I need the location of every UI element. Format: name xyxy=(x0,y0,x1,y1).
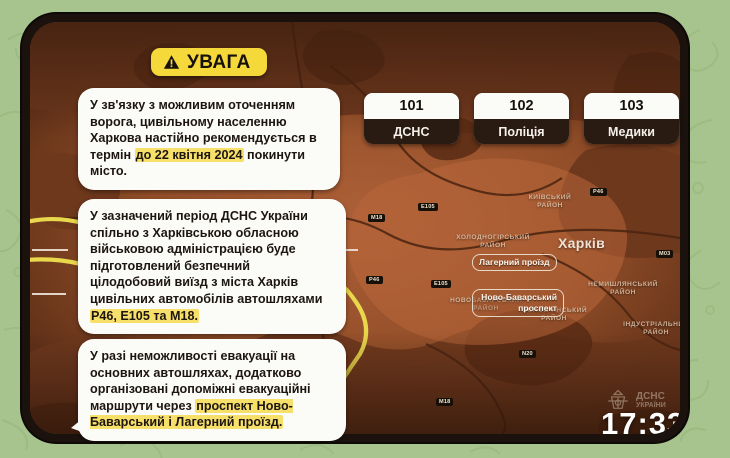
message-text: У разі неможливості евакуації на основни… xyxy=(90,348,334,431)
road-shield-m18-south: M18 xyxy=(436,398,453,406)
road-shield-e105-west: E105 xyxy=(431,280,451,288)
watermark-line-1: ДСНС xyxy=(636,392,666,402)
road-shield-m18-sw: M18 xyxy=(368,214,385,222)
road-shield-m03-ne: M03 xyxy=(656,250,673,258)
emergency-number: 102 xyxy=(474,93,569,119)
emergency-org: Поліція xyxy=(474,119,569,144)
message-bubble-backup-routes: У разі неможливості евакуації на основни… xyxy=(78,339,346,441)
clock-timestamp: 17:33 xyxy=(601,407,680,434)
emergency-card-dsns[interactable]: 101 ДСНС xyxy=(364,93,459,144)
alert-badge: УВАГА xyxy=(151,48,267,76)
map-callout-lagerny-proizd[interactable]: Лагерний проїзд xyxy=(472,254,557,271)
emergency-number: 103 xyxy=(584,93,679,119)
screenshot-root: Харків КИЇВСЬКИЙ РАЙОН ХОЛОДНОГІРСЬКИЙ Р… xyxy=(0,0,730,458)
emergency-org: Медики xyxy=(584,119,679,144)
map-callout-novobavarsky-prospekt[interactable]: Ново-Баварський проспект xyxy=(472,289,564,317)
road-shield-p46-east: P46 xyxy=(590,188,607,196)
emergency-card-police[interactable]: 102 Поліція xyxy=(474,93,569,144)
warning-triangle-icon xyxy=(163,54,180,70)
message-text: У зв'язку з можливим оточенням ворога, ц… xyxy=(90,97,328,180)
message-bubble-main-routes: У зазначений період ДСНС України спільно… xyxy=(78,199,346,334)
highlighted-run: до 22 квітня 2024 xyxy=(135,148,244,162)
alert-badge-label: УВАГА xyxy=(187,53,251,72)
highlighted-run: Р46, Е105 та М18. xyxy=(90,309,199,323)
emergency-org: ДСНС xyxy=(364,119,459,144)
road-shield-e105-north: E105 xyxy=(418,203,438,211)
road-shield-n20-se: N20 xyxy=(519,350,536,358)
message-bubble-evacuation-deadline: У зв'язку з можливим оточенням ворога, ц… xyxy=(78,88,340,190)
emergency-card-medics[interactable]: 103 Медики xyxy=(584,93,679,144)
emergency-number: 101 xyxy=(364,93,459,119)
message-text: У зазначений період ДСНС України спільно… xyxy=(90,208,334,324)
post-frame: Харків КИЇВСЬКИЙ РАЙОН ХОЛОДНОГІРСЬКИЙ Р… xyxy=(22,14,688,442)
emergency-numbers-row: 101 ДСНС 102 Поліція 103 Медики xyxy=(364,93,679,144)
road-shield-p46-west: P46 xyxy=(366,276,383,284)
text-run: У зазначений період ДСНС України спільно… xyxy=(90,209,322,306)
